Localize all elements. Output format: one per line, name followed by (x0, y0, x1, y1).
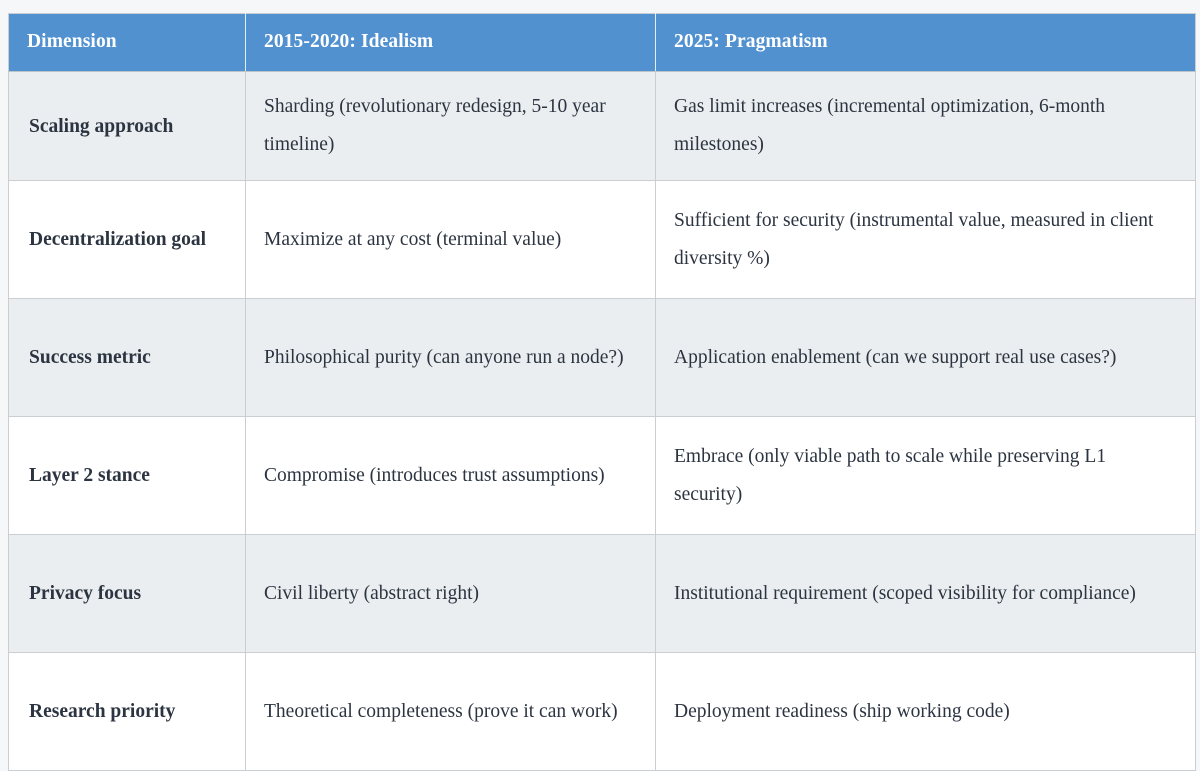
table-row: Layer 2 stance Compromise (introduces tr… (9, 417, 1196, 535)
cell-idealism: Theoretical completeness (prove it can w… (246, 653, 656, 771)
cell-pragmatism: Gas limit increases (incremental optimiz… (656, 72, 1196, 181)
cell-idealism: Maximize at any cost (terminal value) (246, 181, 656, 299)
column-header-idealism: 2015-2020: Idealism (246, 14, 656, 72)
table-body: Scaling approach Sharding (revolutionary… (9, 72, 1196, 771)
table-row: Research priority Theoretical completene… (9, 653, 1196, 771)
cell-idealism: Sharding (revolutionary redesign, 5-10 y… (246, 72, 656, 181)
cell-pragmatism: Sufficient for security (instrumental va… (656, 181, 1196, 299)
table-header: Dimension 2015-2020: Idealism 2025: Prag… (9, 14, 1196, 72)
column-header-pragmatism: 2025: Pragmatism (656, 14, 1196, 72)
column-header-dimension: Dimension (9, 14, 246, 72)
cell-idealism: Civil liberty (abstract right) (246, 535, 656, 653)
cell-dimension: Success metric (9, 299, 246, 417)
cell-idealism: Philosophical purity (can anyone run a n… (246, 299, 656, 417)
table-header-row: Dimension 2015-2020: Idealism 2025: Prag… (9, 14, 1196, 72)
cell-dimension: Research priority (9, 653, 246, 771)
cell-dimension: Decentralization goal (9, 181, 246, 299)
cell-pragmatism: Application enablement (can we support r… (656, 299, 1196, 417)
table-row: Scaling approach Sharding (revolutionary… (9, 72, 1196, 181)
cell-dimension: Privacy focus (9, 535, 246, 653)
cell-dimension: Scaling approach (9, 72, 246, 181)
page-container: Dimension 2015-2020: Idealism 2025: Prag… (0, 0, 1200, 717)
cell-pragmatism: Deployment readiness (ship working code) (656, 653, 1196, 771)
cell-pragmatism: Embrace (only viable path to scale while… (656, 417, 1196, 535)
cell-dimension: Layer 2 stance (9, 417, 246, 535)
table-row: Privacy focus Civil liberty (abstract ri… (9, 535, 1196, 653)
comparison-table: Dimension 2015-2020: Idealism 2025: Prag… (8, 13, 1196, 771)
cell-idealism: Compromise (introduces trust assumptions… (246, 417, 656, 535)
cell-pragmatism: Institutional requirement (scoped visibi… (656, 535, 1196, 653)
table-row: Decentralization goal Maximize at any co… (9, 181, 1196, 299)
table-row: Success metric Philosophical purity (can… (9, 299, 1196, 417)
